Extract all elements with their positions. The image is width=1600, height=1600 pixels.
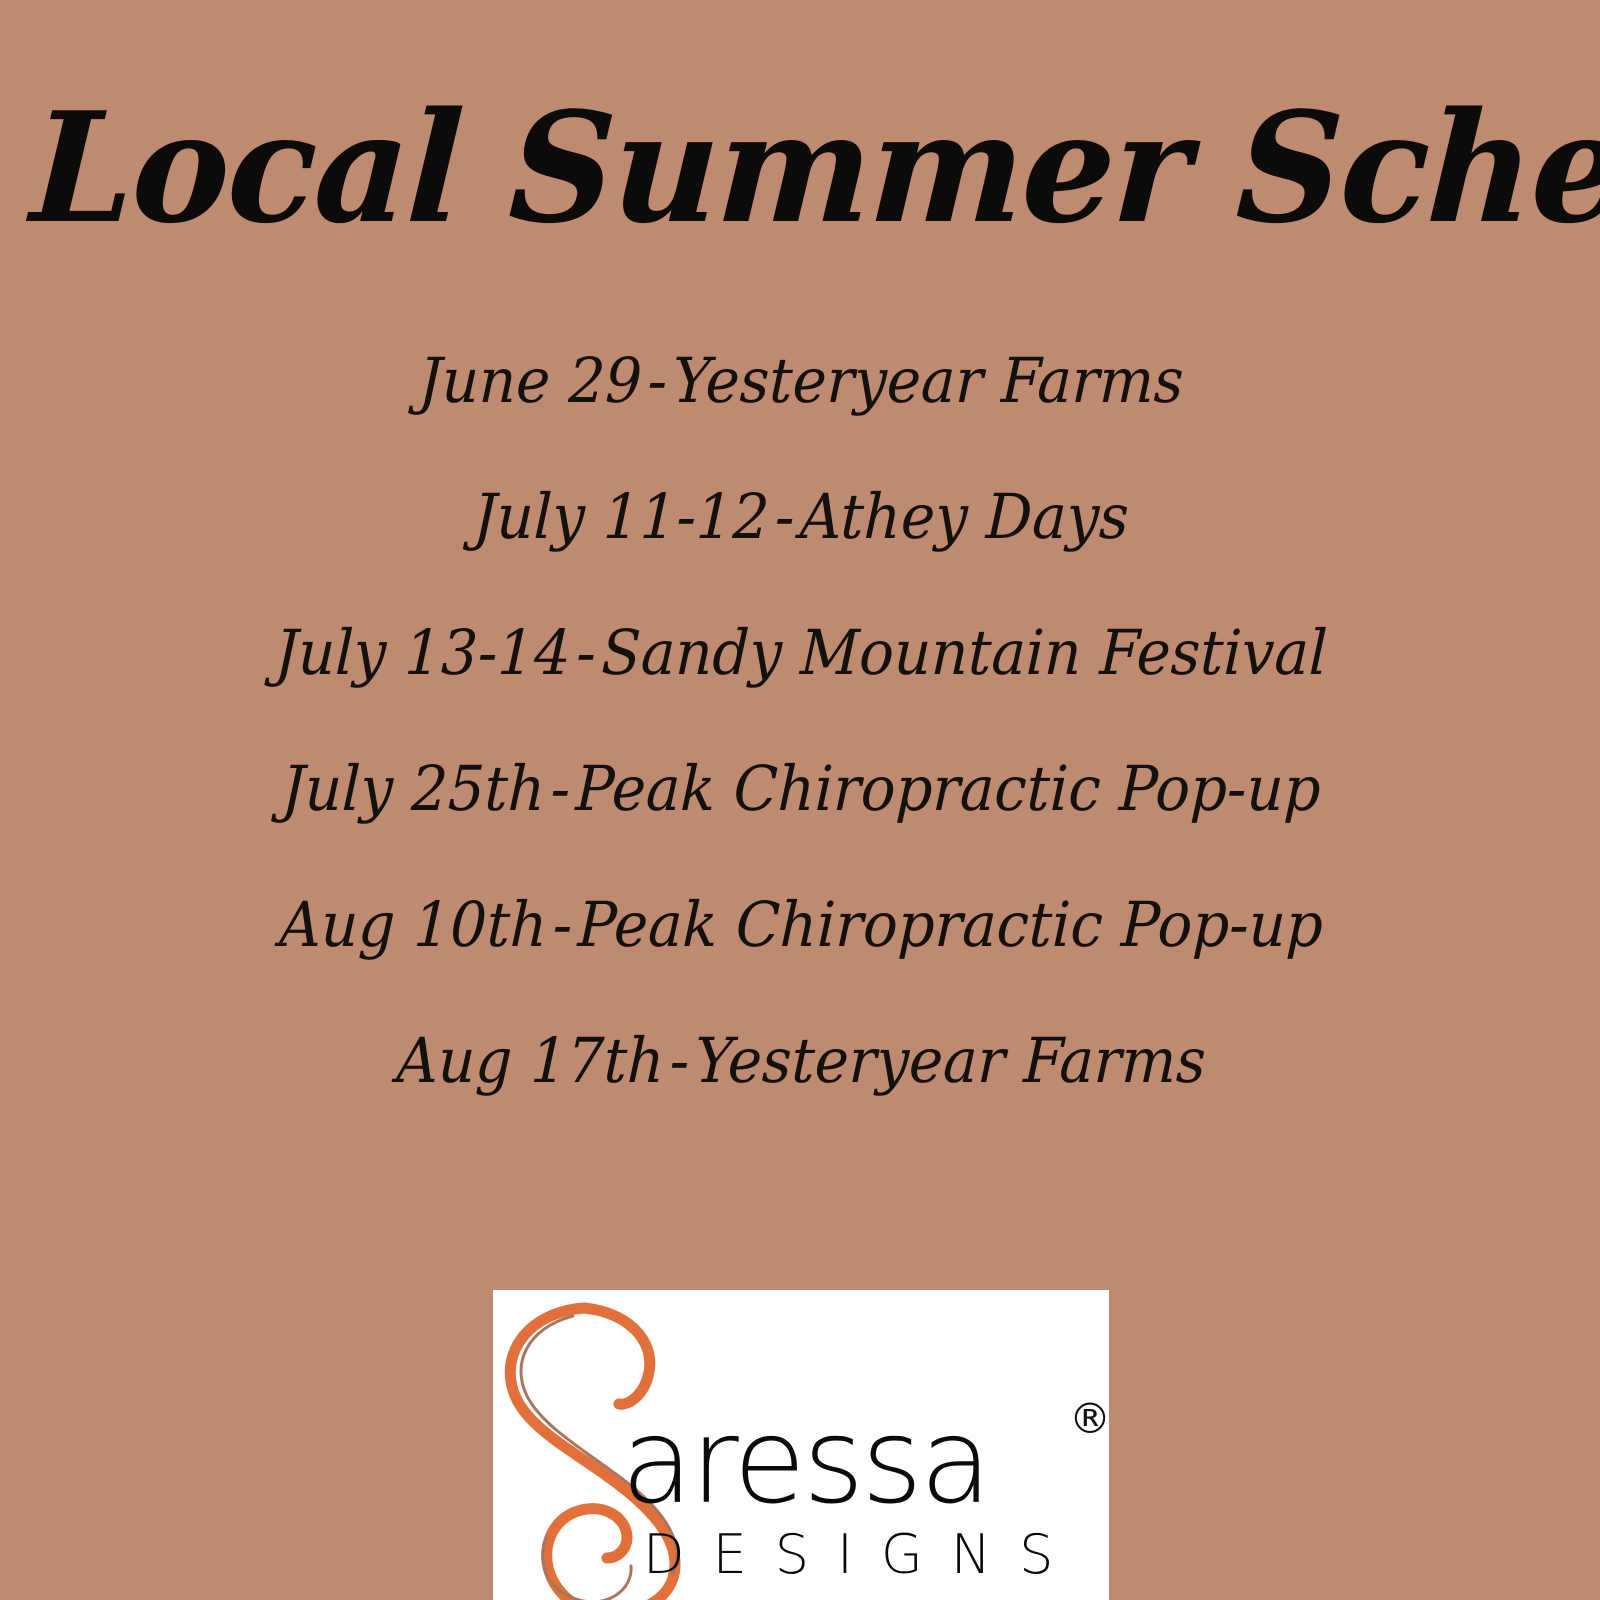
schedule-entry-venue: Athey Days — [799, 480, 1130, 553]
poster-canvas: Local Summer Schedule June 29-Yesteryear… — [0, 0, 1600, 1600]
schedule-entry-venue: Yesteryear Farms — [672, 344, 1185, 417]
schedule-entry-venue: Sandy Mountain Festival — [600, 616, 1328, 689]
schedule-entry-separator: - — [546, 888, 579, 961]
schedule-entry: July 13-14-Sandy Mountain Festival — [54, 622, 1546, 758]
page-title: Local Summer Schedule — [28, 92, 1572, 244]
schedule-entry-venue: Peak Chiropractic Pop-up — [577, 888, 1324, 961]
schedule-entry-venue: Peak Chiropractic Pop-up — [575, 752, 1322, 825]
schedule-entry-date: July 25th — [281, 752, 547, 825]
registered-trademark-icon: ® — [1069, 1398, 1109, 1440]
brand-subtitle: DESIGNS — [643, 1528, 1081, 1582]
schedule-entry-separator: - — [570, 616, 603, 689]
schedule-entry-separator: - — [663, 1024, 696, 1097]
schedule-entry: June 29-Yesteryear Farms — [54, 350, 1546, 486]
brand-logo-card: aressa ® DESIGNS — [493, 1290, 1109, 1600]
schedule-entry-separator: - — [768, 480, 801, 553]
schedule-entry: July 25th-Peak Chiropractic Pop-up — [54, 758, 1546, 894]
schedule-entry-date: Aug 17th — [395, 1024, 665, 1097]
schedule-entry-date: July 13-14 — [274, 616, 572, 689]
schedule-entry-date: June 29 — [418, 344, 644, 417]
schedule-entry-separator: - — [544, 752, 577, 825]
schedule-entry-date: July 11-12 — [472, 480, 770, 553]
schedule-entry-venue: Yesteryear Farms — [694, 1024, 1207, 1097]
schedule-entry: July 11-12-Athey Days — [54, 486, 1546, 622]
schedule-entry: Aug 17th-Yesteryear Farms — [54, 1030, 1546, 1166]
brand-wordmark: aressa — [621, 1402, 989, 1520]
schedule-entry-date: Aug 10th — [278, 888, 548, 961]
schedule-entry-separator: - — [641, 344, 674, 417]
schedule-list: June 29-Yesteryear Farms July 11-12-Athe… — [0, 350, 1600, 1166]
schedule-entry: Aug 10th-Peak Chiropractic Pop-up — [54, 894, 1546, 1030]
